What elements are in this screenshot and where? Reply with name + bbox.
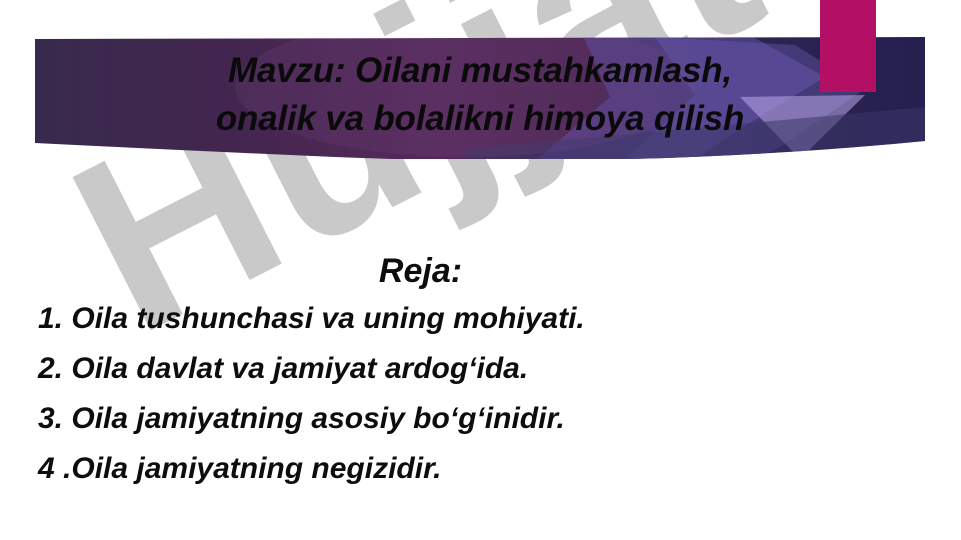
title-banner: Mavzu: Oilani mustahkamlash, onalik va b… (35, 37, 925, 159)
body-heading: Reja: (0, 248, 961, 294)
list-item: 2. Oila davlat va jamiyat ardog‘ida. (0, 344, 961, 394)
title-line-2: onalik va bolalikni himoya qilish (216, 95, 744, 143)
pink-accent-bar-overlay (820, 37, 876, 92)
list-item: 4 .Oila jamiyatning negizidir. (0, 444, 961, 494)
list-item: 1. Oila tushunchasi va uning mohiyati. (0, 294, 961, 344)
title-line-1: Mavzu: Oilani mustahkamlash, (228, 47, 732, 95)
slide-body: Reja: 1. Oila tushunchasi va uning mohiy… (0, 248, 961, 494)
title-text-block: Mavzu: Oilani mustahkamlash, onalik va b… (35, 37, 925, 159)
list-item: 3. Oila jamiyatning asosiy bo‘g‘inidir. (0, 394, 961, 444)
presentation-slide: Hujjat (0, 0, 961, 540)
